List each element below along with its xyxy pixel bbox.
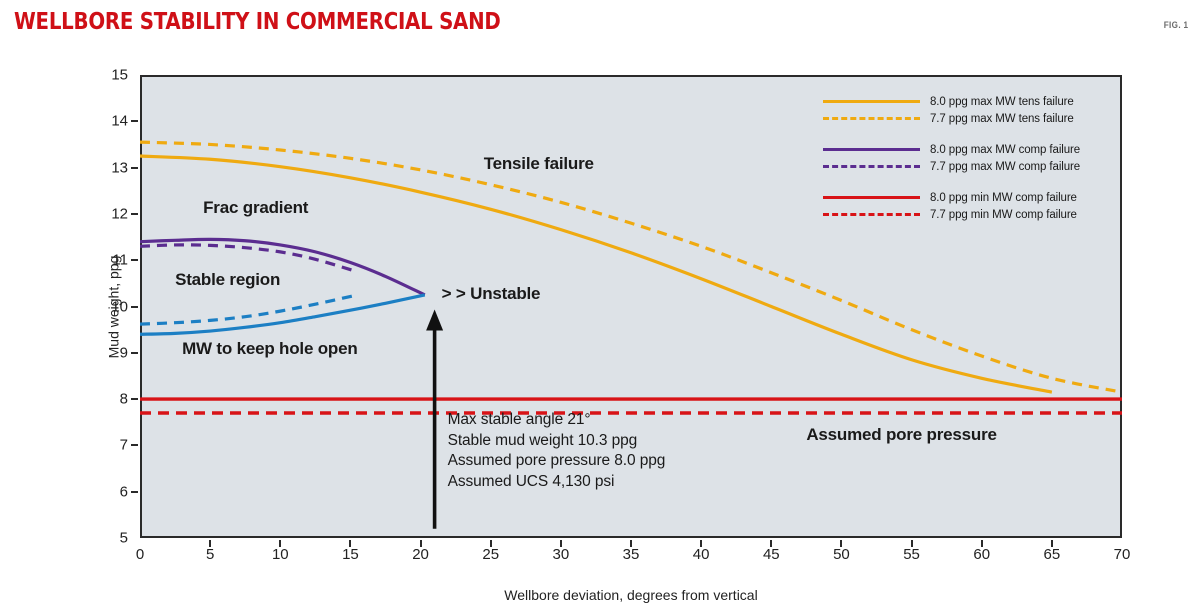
- legend-entry-label: 8.0 ppg max MW comp failure: [930, 144, 1080, 156]
- y-axis-tick-mark: [131, 306, 138, 308]
- y-axis-tick-mark: [131, 259, 138, 261]
- y-axis-tick-mark: [131, 491, 138, 493]
- callout-line: Max stable angle 21°: [448, 410, 666, 431]
- y-axis-tick-mark: [131, 167, 138, 169]
- x-axis-tick-label: 0: [120, 546, 160, 563]
- pointer-arrow-head: [426, 309, 443, 330]
- legend-entry[interactable]: 7.7 ppg max MW tens failure: [823, 110, 1080, 127]
- x-axis-tick-mark: [349, 540, 351, 547]
- callout-line: Assumed pore pressure 8.0 ppg: [448, 451, 666, 472]
- chart-annotation-label: Assumed pore pressure: [806, 425, 996, 445]
- legend-entry-label: 7.7 ppg max MW comp failure: [930, 161, 1080, 173]
- legend-swatch-line: [823, 165, 920, 168]
- y-axis-tick-label: 7: [88, 437, 128, 454]
- x-axis-tick-mark: [279, 540, 281, 547]
- legend-entry-label: 7.7 ppg max MW tens failure: [930, 113, 1074, 125]
- x-axis-tick-label: 25: [471, 546, 511, 563]
- y-axis-tick-label: 14: [88, 113, 128, 130]
- legend-spacer: [823, 127, 1080, 141]
- x-axis-tick-mark: [420, 540, 422, 547]
- x-axis-tick-label: 50: [821, 546, 861, 563]
- y-axis-tick-mark: [131, 444, 138, 446]
- legend-entry[interactable]: 7.7 ppg min MW comp failure: [823, 206, 1080, 223]
- legend-swatch-line: [823, 117, 920, 120]
- chart-legend: 8.0 ppg max MW tens failure7.7 ppg max M…: [823, 93, 1080, 223]
- x-axis-tick-label: 70: [1102, 546, 1142, 563]
- y-axis-tick-mark: [131, 213, 138, 215]
- series-line: [140, 295, 425, 334]
- x-axis-tick-label: 10: [260, 546, 300, 563]
- x-axis-tick-label: 45: [751, 546, 791, 563]
- x-axis-tick-mark: [1051, 540, 1053, 547]
- y-axis-tick-label: 9: [88, 344, 128, 361]
- x-axis-tick-label: 30: [541, 546, 581, 563]
- legend-entry[interactable]: 8.0 ppg max MW tens failure: [823, 93, 1080, 110]
- x-axis-tick-label: 60: [962, 546, 1002, 563]
- y-axis-tick-label: 13: [88, 159, 128, 176]
- figure-number: FIG. 1: [1163, 20, 1188, 30]
- x-axis-tick-mark: [981, 540, 983, 547]
- x-axis-tick-label: 40: [681, 546, 721, 563]
- y-axis-tick-mark: [131, 352, 138, 354]
- legend-entry-label: 8.0 ppg min MW comp failure: [930, 192, 1077, 204]
- x-axis-tick-mark: [700, 540, 702, 547]
- chart-plot-area: Mud weight, ppg 56789101112131415 051015…: [140, 75, 1122, 538]
- series-line: [140, 295, 357, 324]
- y-axis-tick-mark: [131, 398, 138, 400]
- x-axis-tick-label: 65: [1032, 546, 1072, 563]
- page-title: WELLBORE STABILITY IN COMMERCIAL SAND: [14, 9, 501, 35]
- x-axis-title: Wellbore deviation, degrees from vertica…: [140, 587, 1122, 603]
- legend-entry[interactable]: 7.7 ppg max MW comp failure: [823, 158, 1080, 175]
- x-axis-tick-mark: [840, 540, 842, 547]
- callout-text-block: Max stable angle 21°Stable mud weight 10…: [448, 410, 666, 492]
- x-axis-tick-mark: [770, 540, 772, 547]
- legend-swatch-line: [823, 196, 920, 199]
- y-axis-tick-label: 10: [88, 298, 128, 315]
- chart-annotation-label: Frac gradient: [203, 198, 308, 218]
- x-axis-tick-mark: [490, 540, 492, 547]
- x-axis-tick-label: 20: [401, 546, 441, 563]
- legend-spacer: [823, 175, 1080, 189]
- x-axis-tick-mark: [911, 540, 913, 547]
- y-axis-tick-label: 15: [88, 67, 128, 84]
- series-line: [140, 245, 357, 272]
- x-axis-tick-label: 35: [611, 546, 651, 563]
- chart-annotation-label: Tensile failure: [484, 154, 594, 174]
- x-axis-tick-mark: [560, 540, 562, 547]
- callout-line: Assumed UCS 4,130 psi: [448, 472, 666, 493]
- callout-line: Stable mud weight 10.3 ppg: [448, 431, 666, 452]
- x-axis-tick-mark: [630, 540, 632, 547]
- x-axis-tick-label: 15: [330, 546, 370, 563]
- x-axis-tick-mark: [209, 540, 211, 547]
- y-axis-tick-label: 8: [88, 391, 128, 408]
- chart-annotation-label: Stable region: [175, 270, 280, 290]
- x-axis-tick-label: 55: [892, 546, 932, 563]
- legend-swatch-line: [823, 100, 920, 103]
- y-axis-tick-mark: [131, 120, 138, 122]
- y-axis-tick-label: 11: [88, 252, 128, 269]
- legend-entry[interactable]: 8.0 ppg min MW comp failure: [823, 189, 1080, 206]
- legend-entry-label: 8.0 ppg max MW tens failure: [930, 96, 1074, 108]
- legend-swatch-line: [823, 213, 920, 216]
- legend-entry[interactable]: 8.0 ppg max MW comp failure: [823, 141, 1080, 158]
- y-axis-tick-label: 6: [88, 483, 128, 500]
- chart-annotation-label: > > Unstable: [442, 284, 541, 304]
- y-axis-tick-label: 5: [88, 530, 128, 547]
- chart-annotation-label: MW to keep hole open: [182, 339, 357, 359]
- legend-swatch-line: [823, 148, 920, 151]
- x-axis-tick-label: 5: [190, 546, 230, 563]
- legend-entry-label: 7.7 ppg min MW comp failure: [930, 209, 1077, 221]
- y-axis-tick-label: 12: [88, 205, 128, 222]
